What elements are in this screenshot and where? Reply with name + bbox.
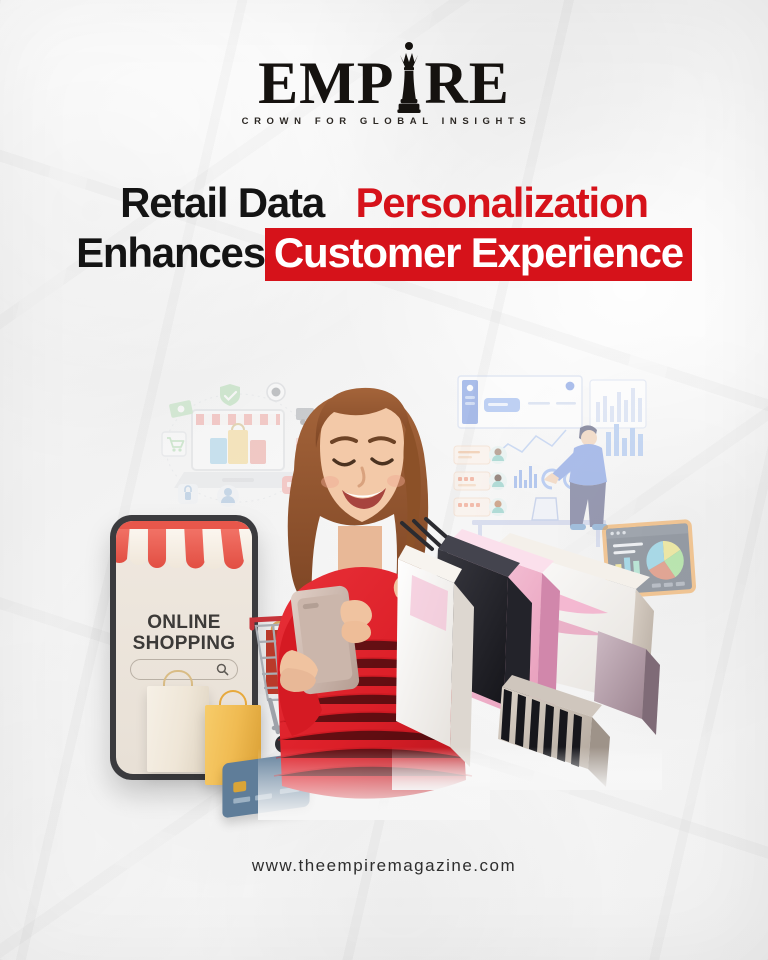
- money-icon: [169, 400, 193, 418]
- headline-highlight: Customer Experience: [265, 228, 692, 281]
- logo-text-right: RE: [424, 56, 509, 111]
- headline-line-2: Enhances Customer Experience: [0, 228, 768, 281]
- phone-screen-title: ONLINE SHOPPING: [116, 613, 252, 654]
- user-icon: [217, 485, 239, 507]
- headline-line2-black: Enhances: [76, 232, 265, 276]
- bag-body: [147, 686, 209, 772]
- logo-wordmark: EMP RE: [258, 56, 510, 111]
- poster-canvas: EMP RE CROWN FOR GLOBAL INSIGHTS: [0, 0, 768, 960]
- logo-tagline: CROWN FOR GLOBAL INSIGHTS: [237, 116, 532, 127]
- cart-icon: [162, 432, 186, 456]
- headline-line-1: Retail Data Personalization: [0, 182, 768, 224]
- cream-paper-bag: [147, 686, 209, 772]
- magnifier-icon: [216, 663, 229, 676]
- lock-icon: [178, 484, 198, 504]
- shop-awning: [116, 521, 252, 577]
- logo-text-left: EMP: [258, 56, 394, 111]
- shopping-bags-bundle: [392, 515, 662, 790]
- brand-logo: EMP RE CROWN FOR GLOBAL INSIGHTS: [0, 56, 768, 127]
- headline-line1-black: Retail Data: [120, 179, 324, 226]
- headline-line1-red: Personalization: [355, 179, 647, 226]
- screen-title-line2: SHOPPING: [116, 634, 252, 655]
- card-chip-icon: [233, 781, 246, 793]
- shield-check-icon: [220, 384, 240, 406]
- footer-website[interactable]: www.theempiremagazine.com: [0, 856, 768, 876]
- screen-title-line1: ONLINE: [116, 613, 252, 634]
- headline-block: Retail Data Personalization Enhances Cus…: [0, 182, 768, 281]
- card-number-block: [233, 796, 250, 803]
- hero-composition: ONLINE SHOPPING: [0, 350, 768, 850]
